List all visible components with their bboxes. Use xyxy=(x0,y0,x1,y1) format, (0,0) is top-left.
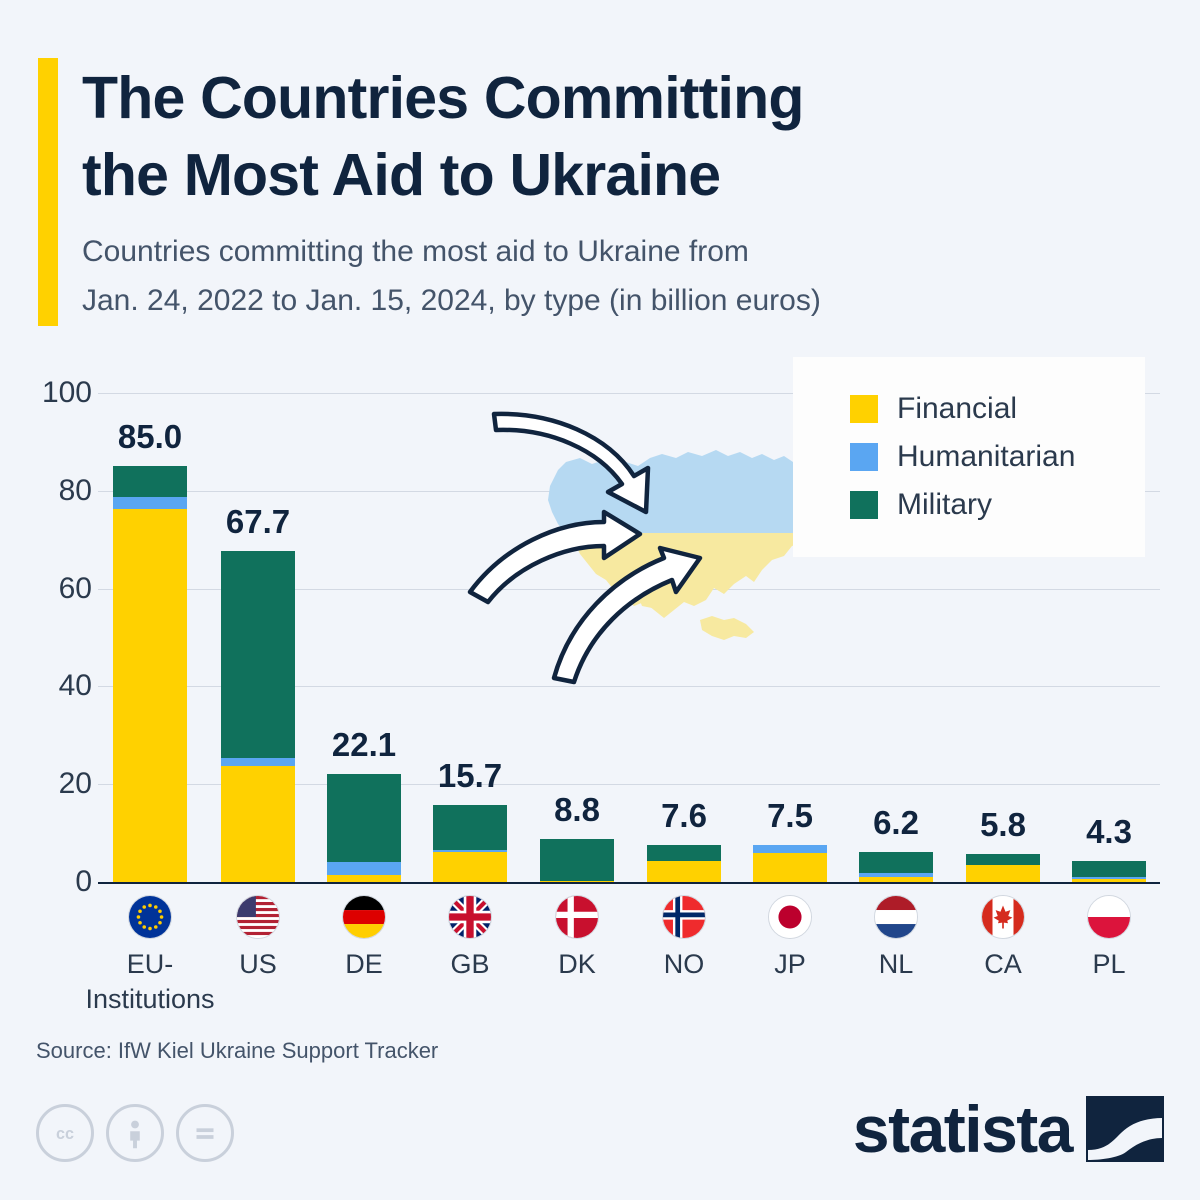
svg-text:cc: cc xyxy=(56,1125,74,1143)
bar-value-label: 22.1 xyxy=(332,726,396,764)
person-glyph xyxy=(118,1116,152,1150)
bar-segment-financial[interactable] xyxy=(221,766,295,882)
creative-commons-icons: cc xyxy=(36,1104,234,1162)
x-axis-category-ca[interactable]: CA xyxy=(923,884,1083,982)
flag-pl-icon xyxy=(1087,895,1131,939)
legend-item-label: Military xyxy=(897,488,992,522)
bar-segment-humanitarian[interactable] xyxy=(753,845,827,853)
y-axis-tick-label: 80 xyxy=(2,474,92,508)
statista-logo[interactable]: statista xyxy=(853,1090,1164,1168)
x-axis-tick-label: GB xyxy=(390,947,550,982)
flag-dk-icon xyxy=(555,895,599,939)
page-title: The Countries Committing the Most Aid to… xyxy=(82,60,1072,213)
x-axis-category-nl[interactable]: NL xyxy=(816,884,976,982)
x-axis-tick-label: NO xyxy=(604,947,764,982)
bar-segment-military[interactable] xyxy=(433,805,507,850)
aid-flow-arrows xyxy=(470,414,700,682)
stacked-bar[interactable] xyxy=(647,845,721,882)
accent-bar xyxy=(38,58,58,326)
flag-us-icon xyxy=(236,895,280,939)
bar-value-label: 4.3 xyxy=(1086,813,1132,851)
stacked-bar[interactable] xyxy=(221,551,295,882)
flag-jp-icon xyxy=(768,895,812,939)
stacked-bar[interactable] xyxy=(113,466,187,882)
chart-legend: FinancialHumanitarianMilitary xyxy=(793,357,1145,557)
x-axis-category-pl[interactable]: PL xyxy=(1029,884,1189,982)
bar-segment-financial[interactable] xyxy=(1072,879,1146,882)
stacked-bar[interactable] xyxy=(753,845,827,882)
x-axis-tick-label: US xyxy=(178,947,338,982)
stacked-bar[interactable] xyxy=(1072,861,1146,882)
bar-segment-military[interactable] xyxy=(540,839,614,881)
stacked-bar[interactable] xyxy=(859,852,933,882)
bar-segment-military[interactable] xyxy=(647,845,721,861)
x-axis-category-eu[interactable]: EU- Institutions xyxy=(70,884,230,1016)
bar-segment-military[interactable] xyxy=(327,774,401,862)
x-axis-tick-label: CA xyxy=(923,947,1083,982)
bar-segment-military[interactable] xyxy=(221,551,295,758)
y-axis-tick-label: 0 xyxy=(2,865,92,899)
x-axis-tick-label: EU- Institutions xyxy=(70,947,230,1016)
statista-wordmark: statista xyxy=(853,1096,1072,1162)
x-axis-category-gb[interactable]: GB xyxy=(390,884,550,982)
bar-segment-military[interactable] xyxy=(859,852,933,874)
x-axis-tick-label: DE xyxy=(284,947,444,982)
bar-segment-military[interactable] xyxy=(966,854,1040,865)
stacked-bar[interactable] xyxy=(327,774,401,882)
x-axis-tick-label: JP xyxy=(710,947,870,982)
legend-item[interactable]: Humanitarian xyxy=(850,433,1145,481)
cc-glyph: cc xyxy=(48,1116,82,1150)
bar-segment-humanitarian[interactable] xyxy=(433,850,507,852)
legend-item-label: Financial xyxy=(897,392,1017,426)
x-axis-category-us[interactable]: US xyxy=(178,884,338,982)
axis-baseline xyxy=(98,882,1160,884)
y-axis-tick-label: 60 xyxy=(2,572,92,606)
bar-segment-financial[interactable] xyxy=(753,853,827,882)
bar-segment-financial[interactable] xyxy=(647,861,721,882)
stacked-bar[interactable] xyxy=(966,854,1040,882)
financial-swatch xyxy=(850,395,878,423)
flag-no-icon xyxy=(662,895,706,939)
bar-segment-humanitarian[interactable] xyxy=(327,862,401,875)
bar-value-label: 85.0 xyxy=(118,418,182,456)
cc-icon[interactable]: cc xyxy=(36,1104,94,1162)
legend-item[interactable]: Financial xyxy=(850,385,1145,433)
bar-segment-military[interactable] xyxy=(1072,861,1146,877)
bar-value-label: 15.7 xyxy=(438,757,502,795)
bar-value-label: 67.7 xyxy=(226,503,290,541)
gridline xyxy=(98,784,1160,785)
bar-segment-humanitarian[interactable] xyxy=(1072,877,1146,879)
x-axis-category-no[interactable]: NO xyxy=(604,884,764,982)
x-axis-tick-label: PL xyxy=(1029,947,1189,982)
bar-segment-financial[interactable] xyxy=(540,881,614,882)
bar-segment-financial[interactable] xyxy=(966,865,1040,882)
equals-glyph xyxy=(188,1116,222,1150)
bar-segment-humanitarian[interactable] xyxy=(859,873,933,877)
flag-nl-icon xyxy=(874,895,918,939)
flag-gb-icon xyxy=(448,895,492,939)
stacked-bar[interactable] xyxy=(540,839,614,882)
source-note: Source: IfW Kiel Ukraine Support Tracker xyxy=(36,1038,438,1064)
bar-segment-humanitarian[interactable] xyxy=(113,497,187,509)
y-axis-tick-label: 40 xyxy=(2,669,92,703)
cc-by-icon[interactable] xyxy=(106,1104,164,1162)
bar-segment-humanitarian[interactable] xyxy=(221,758,295,766)
legend-item-label: Humanitarian xyxy=(897,440,1075,474)
flag-de-icon xyxy=(342,895,386,939)
x-axis-category-de[interactable]: DE xyxy=(284,884,444,982)
bar-segment-financial[interactable] xyxy=(113,509,187,882)
y-axis-tick-label: 20 xyxy=(2,767,92,801)
military-swatch xyxy=(850,491,878,519)
statista-mark-icon xyxy=(1086,1090,1164,1168)
legend-item[interactable]: Military xyxy=(850,481,1145,529)
bar-segment-military[interactable] xyxy=(113,466,187,497)
bar-value-label: 5.8 xyxy=(980,806,1026,844)
flag-eu-icon xyxy=(128,895,172,939)
bar-value-label: 8.8 xyxy=(554,791,600,829)
bar-value-label: 7.5 xyxy=(767,797,813,835)
bar-value-label: 7.6 xyxy=(661,797,707,835)
x-axis-tick-label: NL xyxy=(816,947,976,982)
flag-ca-icon xyxy=(981,895,1025,939)
header: The Countries Committing the Most Aid to… xyxy=(0,0,1200,340)
x-axis-tick-label: DK xyxy=(497,947,657,982)
bar-segment-financial[interactable] xyxy=(327,875,401,882)
y-axis-tick-label: 100 xyxy=(2,376,92,410)
bar-segment-financial[interactable] xyxy=(859,877,933,882)
stacked-bar[interactable] xyxy=(433,805,507,882)
bar-value-label: 6.2 xyxy=(873,804,919,842)
page-subtitle: Countries committing the most aid to Ukr… xyxy=(82,228,1092,325)
cc-nd-icon[interactable] xyxy=(176,1104,234,1162)
x-axis-category-dk[interactable]: DK xyxy=(497,884,657,982)
x-axis-category-jp[interactable]: JP xyxy=(710,884,870,982)
humanitarian-swatch xyxy=(850,443,878,471)
bar-segment-financial[interactable] xyxy=(433,852,507,882)
